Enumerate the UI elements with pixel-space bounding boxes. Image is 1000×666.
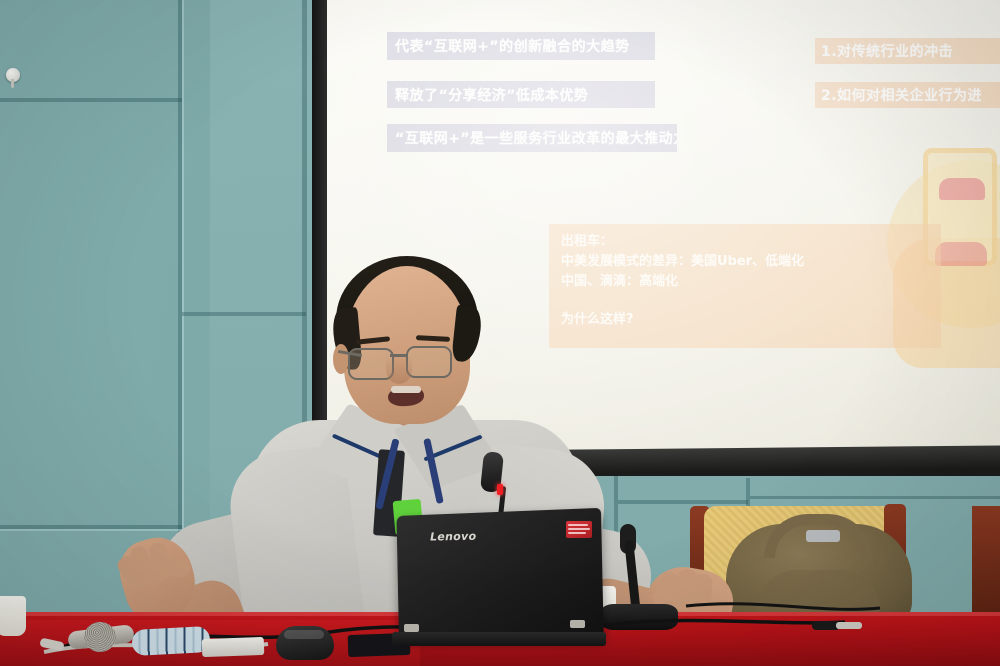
eyeglass-lens-right — [406, 346, 452, 378]
laptop-sticker — [566, 521, 592, 538]
microphone-led-indicator — [497, 484, 503, 495]
sticker-line — [568, 532, 586, 534]
slide-bullet-right-1: 1.对传统行业的冲击 — [815, 38, 1000, 64]
photograph-scene: 代表“互联网+”的创新融合的大趋势 释放了“分享经济”低成本优势 “互联网+”是… — [0, 0, 1000, 666]
slide-lower-line-3: 中国、滴滴：高端化 — [561, 272, 929, 292]
cable-plug-tip — [836, 622, 862, 629]
laptop-brand-logo: Lenovo — [430, 530, 486, 544]
laptop-base — [392, 632, 606, 646]
slide-bullet-right-2: 2.如何对相关企业行为进 — [815, 82, 1000, 108]
wall-groove-horizontal-1 — [0, 98, 182, 102]
illustration-taxi-icon — [939, 178, 985, 200]
backpack-clip — [806, 530, 840, 542]
handheld-microphone-grille — [84, 622, 116, 652]
illustration-taxi-icon-secondary — [935, 242, 987, 266]
slide-bullet-left-2: 释放了“分享经济”低成本优势 — [387, 81, 655, 108]
laptop-lid-foot-right — [570, 620, 585, 628]
computer-mouse-highlight — [284, 630, 324, 639]
plaid-eyeglass-case — [131, 626, 210, 656]
slide-bullet-left-1: 代表“互联网+”的创新融合的大趋势 — [387, 32, 655, 60]
slide-lower-line-2: 中美发展模式的差异：美国Uber、低端化 — [561, 252, 929, 272]
sticker-line — [568, 524, 588, 526]
audio-cable-rear — [686, 604, 880, 610]
laptop-lid-foot-left — [404, 624, 419, 632]
presenter-ear — [333, 344, 349, 374]
wall-hook-stem — [11, 79, 14, 88]
presenter-hair-side-right — [451, 305, 483, 363]
wall-groove-horizontal-5 — [750, 496, 1000, 499]
presenter-teeth — [391, 386, 421, 393]
slide-lower-line-1: 出租车： — [561, 232, 929, 252]
second-paper-cup — [0, 596, 26, 636]
sticker-line — [568, 528, 590, 530]
smartphone — [202, 637, 265, 657]
presenter-nose — [386, 356, 412, 384]
